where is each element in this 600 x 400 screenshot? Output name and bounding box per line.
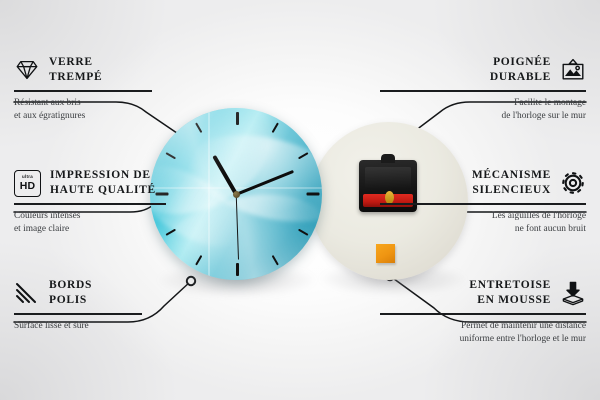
feature-divider: [380, 203, 586, 204]
feature-title-line1: POIGNÉE: [490, 55, 551, 70]
feature-divider: [380, 313, 586, 314]
feature-title-line2: SILENCIEUX: [472, 183, 551, 198]
feature-mecanisme-silencieux: MÉCANISME SILENCIEUX Les aiguilles de l'…: [380, 168, 586, 236]
feature-subtitle: Facilite le montage de l'horloge sur le …: [380, 97, 586, 124]
feature-divider: [380, 90, 586, 91]
picture-hanger-icon: [560, 57, 586, 83]
feature-title-line2: POLIS: [49, 293, 92, 308]
feature-verre-trempe: VERRE TREMPÉ Résistant aux bris et aux é…: [14, 55, 220, 123]
feature-subtitle-line1: Résistant aux bris: [14, 97, 220, 110]
diamond-icon: [14, 57, 40, 83]
gear-icon: [560, 170, 586, 196]
feature-title-line1: IMPRESSION DE: [50, 168, 156, 183]
feature-subtitle-line2: uniforme entre l'horloge et le mur: [380, 333, 586, 346]
feature-subtitle-line1: Facilite le montage: [380, 97, 586, 110]
feature-divider: [14, 313, 142, 314]
feature-subtitle-line1: Les aiguilles de l'horloge: [380, 210, 586, 223]
feature-subtitle: Résistant aux bris et aux égratignures: [14, 97, 220, 124]
feature-subtitle: Couleurs intenses et image claire: [14, 210, 220, 237]
ultra-hd-icon-large-label: HD: [20, 181, 36, 192]
feature-subtitle-line2: de l'horloge sur le mur: [380, 110, 586, 123]
feature-title-line1: MÉCANISME: [472, 168, 551, 183]
feature-title-line1: BORDS: [49, 278, 92, 293]
feature-entretoise-en-mousse: ENTRETOISE EN MOUSSE Permet de maintenir…: [380, 278, 586, 346]
ultra-hd-icon: ultra HD: [14, 170, 41, 197]
movement-hanger-tab: [381, 154, 395, 163]
polished-edge-icon: [14, 280, 40, 306]
foam-spacer: [376, 244, 395, 263]
feature-subtitle-line2: ne font aucun bruit: [380, 223, 586, 236]
foam-spacer-icon: [560, 280, 586, 306]
feature-impression-haute-qualite: ultra HD IMPRESSION DE HAUTE QUALITÉ Cou…: [14, 168, 220, 236]
feature-divider: [14, 203, 166, 204]
feature-subtitle: Permet de maintenir une distance uniform…: [380, 320, 586, 347]
feature-subtitle-line1: Surface lisse et sûre: [14, 320, 220, 333]
feature-title-line2: TREMPÉ: [49, 70, 102, 85]
feature-bords-polis: BORDS POLIS Surface lisse et sûre: [14, 278, 220, 333]
feature-title-line1: ENTRETOISE: [469, 278, 551, 293]
feature-subtitle-line1: Couleurs intenses: [14, 210, 220, 223]
infographic-canvas: VERRE TREMPÉ Résistant aux bris et aux é…: [0, 0, 600, 400]
feature-subtitle: Les aiguilles de l'horloge ne font aucun…: [380, 210, 586, 237]
feature-subtitle-line2: et image claire: [14, 223, 220, 236]
feature-title-line1: VERRE: [49, 55, 102, 70]
feature-title: ENTRETOISE EN MOUSSE: [469, 278, 551, 308]
feature-title: MÉCANISME SILENCIEUX: [472, 168, 551, 198]
feature-subtitle-line1: Permet de maintenir une distance: [380, 320, 586, 333]
feature-title-line2: EN MOUSSE: [469, 293, 551, 308]
feature-subtitle: Surface lisse et sûre: [14, 320, 220, 333]
feature-subtitle-line2: et aux égratignures: [14, 110, 220, 123]
feature-title-line2: DURABLE: [490, 70, 551, 85]
feature-poignee-durable: POIGNÉE DURABLE Facilite le montage de l…: [380, 55, 586, 123]
feature-title: BORDS POLIS: [49, 278, 92, 308]
feature-title: VERRE TREMPÉ: [49, 55, 102, 85]
feature-title: IMPRESSION DE HAUTE QUALITÉ: [50, 168, 156, 198]
feature-title: POIGNÉE DURABLE: [490, 55, 551, 85]
ultra-hd-icon-small-label: ultra: [22, 175, 33, 179]
feature-divider: [14, 90, 152, 91]
feature-title-line2: HAUTE QUALITÉ: [50, 183, 156, 198]
